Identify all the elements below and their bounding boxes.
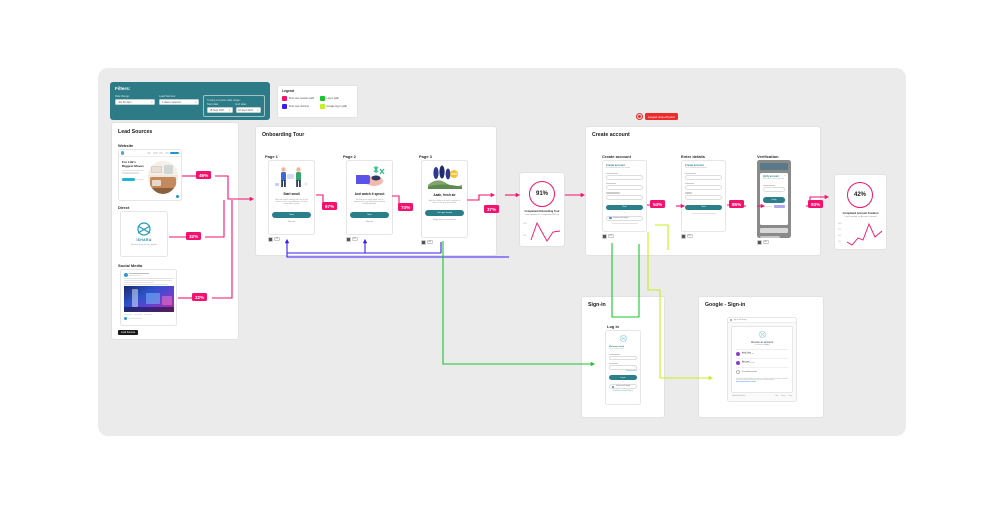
page-1-label: Page 1 xyxy=(265,154,278,159)
google-icon xyxy=(609,217,612,220)
ishara-logo-icon xyxy=(134,222,154,236)
onboarding-metric-sublabel: Lead creation vs. Completed OB Tour xyxy=(522,214,562,216)
privacy-link[interactable]: Privacy xyxy=(781,396,785,397)
website-percent: 46% xyxy=(196,171,211,179)
continue-link[interactable]: Ishara xyxy=(765,345,769,346)
filters-panel: Filters: Date Range: Last 30 days ▾ Lead… xyxy=(110,82,270,120)
site-logo-icon xyxy=(121,151,124,154)
google-account-row[interactable]: Ade Lawal ade.lawal@mail.com xyxy=(736,359,788,368)
google-icon xyxy=(612,386,614,388)
help-link[interactable]: Help xyxy=(776,396,779,397)
page-1-heading: Start small xyxy=(272,192,311,196)
verification-count: 06 xyxy=(763,240,769,244)
legend-item: Google log-in path xyxy=(320,104,354,109)
page-1-illustration xyxy=(272,164,311,188)
login-card-label: Log in xyxy=(607,324,619,329)
verification-tag: 06 xyxy=(757,240,769,245)
enter-details-tag: 05 xyxy=(681,234,693,239)
use-another-account-row[interactable]: Use another account xyxy=(736,368,788,376)
frame-icon xyxy=(681,234,686,239)
onboarding-metric-chart: 100%50% xyxy=(523,219,561,244)
legend-swatch xyxy=(320,96,325,101)
direct-tagline: Dynamic flows that we together xyxy=(131,244,157,246)
enter-details-count: 05 xyxy=(687,234,693,238)
social-media-mock[interactable] xyxy=(120,269,177,326)
end-date-input[interactable]: 18 Sept 2023 ▾ xyxy=(236,107,262,113)
chevron-down-icon: ▾ xyxy=(195,101,196,104)
lead-sources-label: Lead Sources: xyxy=(159,95,199,98)
chevron-down-icon: ▾ xyxy=(257,109,258,112)
date-range-group: Date Range: Last 30 days ▾ xyxy=(115,95,155,117)
page-2-tag: 02 xyxy=(346,237,358,242)
account-email: ade.lawal@mail.com xyxy=(742,363,755,364)
start-date-value: 18 Sept 2023 xyxy=(210,109,225,112)
svg-text:100%: 100% xyxy=(523,223,528,225)
highlight-chip xyxy=(774,205,785,208)
page-1-percent: 67% xyxy=(322,202,337,210)
create-account-step-label: Create account xyxy=(602,154,631,159)
login-password-field[interactable]: ● xyxy=(609,365,637,370)
lead-sources-select[interactable]: 4 values selected ▾ xyxy=(159,99,199,105)
page-3-label: Page 3 xyxy=(419,154,432,159)
svg-text:50%: 50% xyxy=(838,235,842,237)
direct-mock[interactable]: ISHARA Dynamic flows that we together xyxy=(120,211,168,257)
svg-text:100%: 100% xyxy=(838,223,843,225)
website-label: Website xyxy=(118,143,133,148)
lead-sources-title: Lead Sources xyxy=(118,129,152,135)
create-account-sub: Get started with your free account xyxy=(606,168,643,169)
avatar xyxy=(124,273,128,277)
page-2-illustration xyxy=(350,164,389,188)
chevron-down-icon: ▾ xyxy=(151,101,152,104)
legend-label: Log in path xyxy=(327,97,339,100)
direct-label: Direct xyxy=(118,205,129,210)
website-mock[interactable]: For Life'sBiggest Moves xyxy=(118,149,182,201)
end-date-value: 18 Sept 2023 xyxy=(238,109,253,112)
terms-link[interactable]: Terms xyxy=(788,396,792,397)
page-2-heading: And watch it sprout xyxy=(350,192,389,196)
like-icon[interactable] xyxy=(124,317,127,320)
avatar xyxy=(736,352,740,356)
account-metric-chart: 100%75% 50%25% xyxy=(838,220,883,247)
company-field[interactable] xyxy=(685,185,722,190)
enter-details-card[interactable]: Create account Tell us a little bit abou… xyxy=(681,160,726,232)
legend-swatch xyxy=(282,96,287,101)
legend-label: First user shortcut xyxy=(289,105,309,108)
end-date-group: End date: 18 Sept 2023 ▾ xyxy=(236,103,262,113)
google-policy-links[interactable]: privacy policy and terms of service. xyxy=(736,382,788,384)
page-3-body: And with a little bit of work, a breathe… xyxy=(425,200,464,205)
avatar xyxy=(736,361,740,365)
website-hero-image xyxy=(148,161,178,194)
custom-range-label: If using a custom date range: xyxy=(207,99,261,102)
enter-details-cta[interactable]: Next xyxy=(685,205,722,211)
page-3-skip[interactable]: Maybe later or I can't decide xyxy=(425,219,464,221)
role-field[interactable] xyxy=(685,195,722,200)
svg-text:50%: 50% xyxy=(523,235,527,237)
account-email: a.okeke@mail.com xyxy=(742,354,754,355)
onboarding-metric-circle: 91% xyxy=(529,181,555,207)
end-date-label: End date: xyxy=(236,103,262,106)
close-icon[interactable]: ✕ xyxy=(784,175,786,177)
login-card[interactable]: Welcome back Log in to your account ● Fo… xyxy=(605,330,641,405)
social-post-image xyxy=(124,286,174,312)
page-1-count: 01 xyxy=(274,237,280,241)
page-3-cta[interactable]: Let's get started xyxy=(425,210,464,216)
google-account-row[interactable]: Aisha Okeke a.okeke@mail.com xyxy=(736,350,788,359)
verify-code-field[interactable]: ▾ xyxy=(763,187,785,192)
lead-sources-footer-badge: Lead Sources xyxy=(118,330,138,335)
verify-cta[interactable]: Verify xyxy=(763,197,785,203)
page-1-skip[interactable]: Skip tour xyxy=(272,221,311,223)
page-3-heading: Aaah, fresh air xyxy=(425,193,464,197)
page-1-body: Start with what's working now, one or tw… xyxy=(272,199,311,206)
legend-item: First user session path xyxy=(282,96,316,101)
verification-percent: 93% xyxy=(808,200,823,208)
login-google-button[interactable]: Continue with Google xyxy=(609,384,637,389)
date-range-label: Date Range: xyxy=(115,95,155,98)
enter-details-percent: 85% xyxy=(729,200,744,208)
login-email-field[interactable] xyxy=(609,356,637,361)
create-account-percent: 54% xyxy=(650,200,665,208)
filters-title: Filters: xyxy=(115,86,265,91)
page-3-percent: 37% xyxy=(484,205,499,213)
legend-title: Legend xyxy=(282,89,353,93)
page-2-cta[interactable]: Next xyxy=(350,212,389,218)
create-account-title: Create account xyxy=(592,132,630,138)
date-range-select[interactable]: Last 30 days ▾ xyxy=(115,99,155,105)
create-account-count: 04 xyxy=(608,234,614,238)
social-media-percent: 22% xyxy=(192,293,207,301)
create-account-tag: 04 xyxy=(602,234,614,239)
signup-link[interactable]: Don't have an account? Sign up xyxy=(609,391,637,392)
email-field[interactable] xyxy=(606,175,643,180)
page-2-label: Page 2 xyxy=(343,154,356,159)
login-heading: Welcome back xyxy=(609,346,637,348)
social-media-label: Social Media xyxy=(118,263,142,268)
legend-swatch xyxy=(282,104,287,109)
drop-off-indicator: Largest drop-off point xyxy=(636,112,678,121)
enter-details-heading: Create account xyxy=(685,164,722,167)
login-cta[interactable]: Log in xyxy=(609,375,637,380)
signin-title: Sign-in xyxy=(588,302,606,308)
account-metric-sublabel: Lead creation vs. Account Created xyxy=(837,216,884,218)
date-range-value: Last 30 days xyxy=(118,101,132,104)
page-2-percent: 74% xyxy=(398,203,413,211)
website-cta[interactable] xyxy=(122,178,135,182)
frame-icon xyxy=(346,237,351,242)
confirm-password-field[interactable] xyxy=(606,195,643,200)
account-metric-circle: 42% xyxy=(847,182,873,208)
forgot-password-link[interactable]: Forgot password? xyxy=(609,371,637,372)
drop-off-label: Largest drop-off point xyxy=(645,113,678,120)
verify-sub: We've sent a code to your inbox xyxy=(763,179,785,181)
start-date-group: Start date: 18 Sept 2023 ▾ xyxy=(207,103,233,113)
password-field[interactable] xyxy=(606,185,643,190)
frame-icon xyxy=(421,240,426,245)
person-icon xyxy=(736,370,740,374)
lead-sources-group: Lead Sources: 4 values selected ▾ xyxy=(159,95,199,117)
custom-range-box: If using a custom date range: Start date… xyxy=(203,95,265,117)
frame-icon xyxy=(757,240,762,245)
verification-screen[interactable]: ✕ Verify account We've sent a code to yo… xyxy=(757,160,791,238)
legend-item: First user shortcut xyxy=(282,104,316,109)
legend-item: Log in path xyxy=(320,96,354,101)
page-2-body: We help you to understand what is happen… xyxy=(350,199,389,206)
legend-swatch xyxy=(320,104,325,109)
account-metric-label: Completed Account Creation xyxy=(837,212,884,215)
legend-label: First user session path xyxy=(289,97,314,100)
page-2-skip[interactable]: Skip tour xyxy=(350,221,389,223)
start-date-label: Start date: xyxy=(207,103,233,106)
website-headline: For Life'sBiggest Moves xyxy=(122,161,145,168)
onboarding-page-3-card[interactable]: Aaah, fresh air And with a little bit of… xyxy=(421,160,468,238)
page-3-illustration xyxy=(425,164,464,190)
onboarding-title: Onboarding Tour xyxy=(262,132,304,138)
fullname-field[interactable] xyxy=(685,175,722,180)
onboarding-page-1-card[interactable]: Start small Start with what's working no… xyxy=(268,160,315,235)
choose-account-heading: Choose an account xyxy=(736,341,788,344)
record-circle-icon xyxy=(636,113,643,120)
create-account-cta[interactable]: Next xyxy=(606,205,643,211)
language-selector[interactable]: English (United States) xyxy=(732,396,745,397)
chat-bubble-icon[interactable] xyxy=(176,195,179,198)
lead-sources-value: 4 values selected xyxy=(162,101,181,104)
onboarding-metric-label: Completed Onboarding Tour xyxy=(522,210,562,213)
verification-label: Verification xyxy=(757,154,779,159)
frame-icon xyxy=(602,234,607,239)
divider-label: or xyxy=(606,212,643,214)
chevron-down-icon: ▾ xyxy=(229,109,230,112)
frame-icon xyxy=(268,237,273,242)
google-browser-window[interactable]: Sign in with Google Choose an account to… xyxy=(727,317,797,402)
direct-brand: ISHARA xyxy=(136,238,151,242)
svg-text:75%: 75% xyxy=(838,229,842,231)
legend-panel: Legend First user session path Log in pa… xyxy=(277,85,358,118)
ishara-logo-icon xyxy=(758,330,767,339)
lock-icon xyxy=(730,319,732,321)
google-signin-button[interactable]: Continue with Google xyxy=(606,216,643,221)
login-sub: Log in to your account xyxy=(609,349,637,350)
page-3-tag: 03 xyxy=(421,240,433,245)
page-1-tag: 01 xyxy=(268,237,280,242)
svg-text:25%: 25% xyxy=(838,241,842,243)
login-divider: or xyxy=(609,382,637,383)
google-signin-title: Google - Sign-in xyxy=(705,302,745,308)
enter-details-label: Enter details xyxy=(681,154,705,159)
start-date-input[interactable]: 18 Sept 2023 ▾ xyxy=(207,107,233,113)
page-1-cta[interactable]: Next xyxy=(272,212,311,218)
direct-percent: 32% xyxy=(186,232,201,240)
legend-label: Google log-in path xyxy=(327,105,347,108)
create-account-heading: Create account xyxy=(606,164,643,167)
page-3-count: 03 xyxy=(427,240,433,244)
browser-label: Sign in with Google xyxy=(734,320,747,321)
create-account-card[interactable]: Create account Get started with your fre… xyxy=(602,160,647,232)
ishara-logo-icon xyxy=(619,334,628,343)
enter-details-sub: Tell us a little bit about yourself xyxy=(685,168,722,169)
choose-account-sub: to continue to Ishara xyxy=(736,345,788,346)
verify-heading: Verify account xyxy=(763,176,785,178)
page-2-count: 02 xyxy=(352,237,358,241)
onboarding-page-2-card[interactable]: And watch it sprout We help you to under… xyxy=(346,160,393,235)
